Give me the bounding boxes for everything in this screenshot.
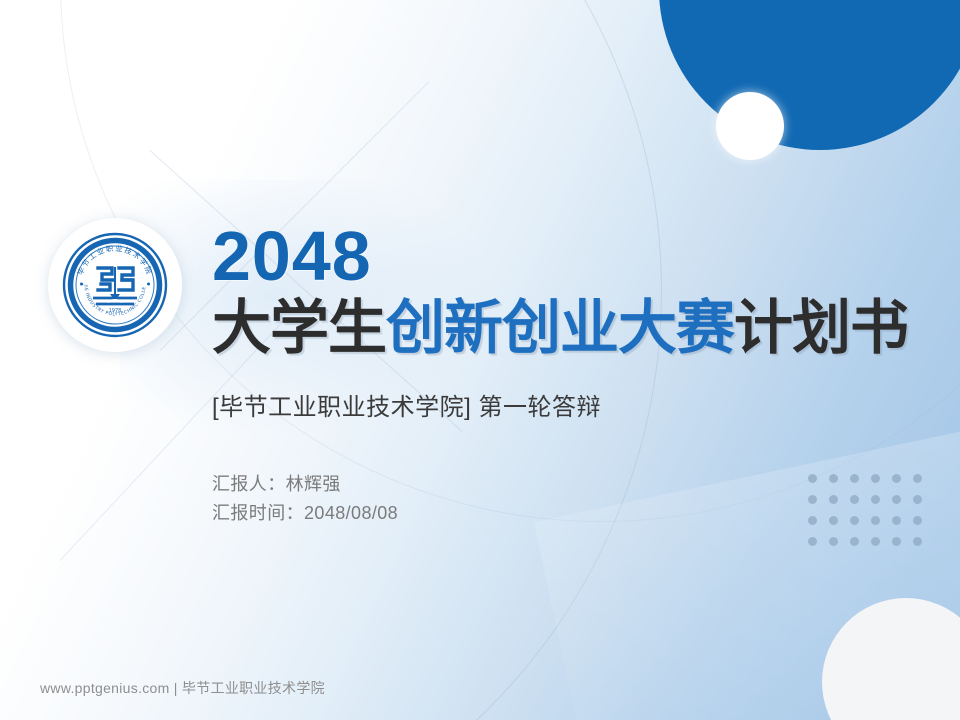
title-segment-right: 计划书 [734,295,908,361]
grid-dot [892,537,901,546]
grid-dot [871,537,880,546]
university-logo: 毕节工业职业技术学院 BIJIE INDUSTRY POLYTECHNIC CO… [48,218,182,352]
white-circle-accent [716,92,784,160]
grid-dot [913,516,922,525]
presentation-meta: 汇报人：林辉强 汇报时间：2048/08/08 [212,470,912,528]
subtitle: [毕节工业职业技术学院] 第一轮答辩 [212,387,912,422]
university-emblem-icon: 毕节工业职业技术学院 BIJIE INDUSTRY POLYTECHNIC CO… [62,232,168,338]
page-title: 大学生创新创业大赛计划书 [212,297,912,360]
svg-text:1978: 1978 [109,308,122,314]
presenter-line: 汇报人：林辉强 [212,470,912,499]
grid-dot [850,537,859,546]
bottom-white-circle-decoration [822,598,960,720]
year-heading: 2048 [212,222,912,291]
title-segment-left: 大学生 [212,295,386,361]
presentation-slide: 毕节工业职业技术学院 BIJIE INDUSTRY POLYTECHNIC CO… [0,0,960,720]
footer-credit: www.pptgenius.com | 毕节工业职业技术学院 [40,678,325,698]
grid-dot [808,537,817,546]
grid-dot [913,537,922,546]
date-line: 汇报时间：2048/08/08 [212,499,912,528]
blue-circle-decoration [659,0,960,150]
grid-dot [829,537,838,546]
grid-dot [913,474,922,483]
grid-dot [913,495,922,504]
title-segment-highlight: 创新创业大赛 [386,295,734,361]
slide-text-content: 2048 大学生创新创业大赛计划书 [毕节工业职业技术学院] 第一轮答辩 汇报人… [212,222,912,528]
